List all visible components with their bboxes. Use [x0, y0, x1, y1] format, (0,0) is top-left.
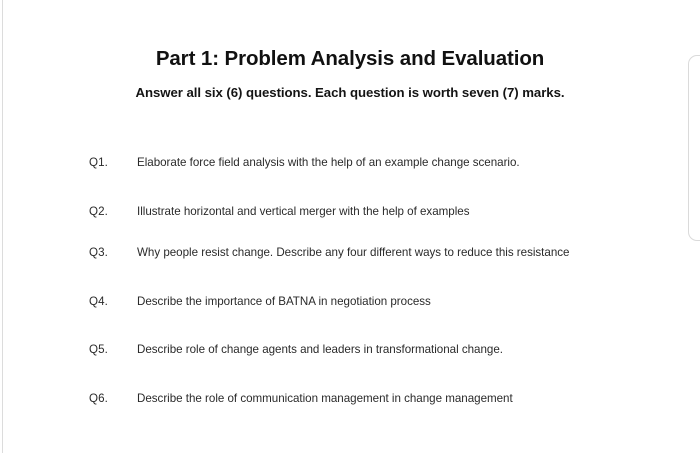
page-title: Part 1: Problem Analysis and Evaluation [0, 47, 700, 71]
question-label: Q1. [89, 156, 137, 169]
question-row: Q5. Describe role of change agents and l… [89, 343, 649, 359]
question-text: Describe the importance of BATNA in nego… [137, 295, 649, 308]
question-text: Describe role of change agents and leade… [137, 343, 649, 356]
question-text: Elaborate force field analysis with the … [137, 156, 649, 169]
right-panel-edge [688, 55, 700, 241]
question-row: Q2. Illustrate horizontal and vertical m… [89, 205, 649, 221]
question-text: Describe the role of communication manag… [137, 392, 649, 405]
question-label: Q2. [89, 205, 137, 218]
question-row: Q4. Describe the importance of BATNA in … [89, 295, 649, 311]
question-label: Q4. [89, 295, 137, 308]
question-text: Illustrate horizontal and vertical merge… [137, 205, 649, 218]
question-text: Why people resist change. Describe any f… [137, 246, 649, 259]
question-row: Q3. Why people resist change. Describe a… [89, 246, 649, 262]
question-label: Q6. [89, 392, 137, 405]
question-row: Q6. Describe the role of communication m… [89, 392, 649, 408]
page-subtitle-instructions: Answer all six (6) questions. Each quest… [0, 85, 700, 100]
question-row: Q1. Elaborate force field analysis with … [89, 156, 649, 172]
question-label: Q3. [89, 246, 137, 259]
question-label: Q5. [89, 343, 137, 356]
document-body: Part 1: Problem Analysis and Evaluation … [0, 0, 700, 453]
